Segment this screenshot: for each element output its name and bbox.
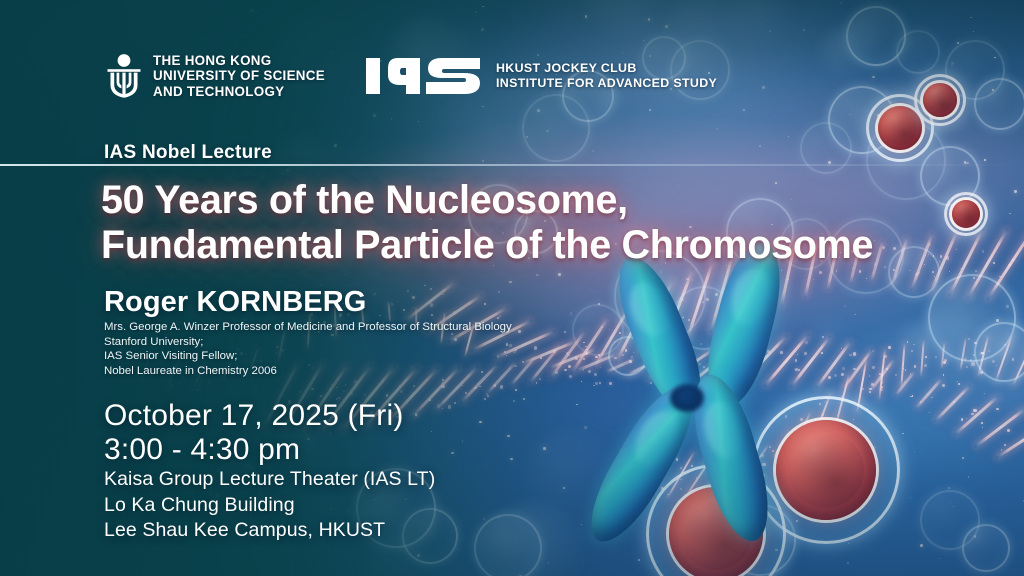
speaker-affiliation: Mrs. George A. Winzer Professor of Medic… — [104, 320, 512, 378]
event-date-time: October 17, 2025 (Fri) 3:00 - 4:30 pm — [104, 399, 435, 467]
header-divider — [0, 164, 1024, 166]
series-label: IAS Nobel Lecture — [104, 142, 272, 164]
event-date: October 17, 2025 (Fri) — [104, 399, 435, 433]
ias-wordmark-icon — [364, 54, 482, 98]
event-time: 3:00 - 4:30 pm — [104, 433, 435, 467]
ias-logo: HKUST JOCKEY CLUB INSTITUTE FOR ADVANCED… — [364, 54, 717, 98]
ias-wordmark-line-2: INSTITUTE FOR ADVANCED STUDY — [496, 76, 717, 91]
speaker-affiliation-line-1: Mrs. George A. Winzer Professor of Medic… — [104, 320, 512, 335]
speaker-affiliation-line-4: Nobel Laureate in Chemistry 2006 — [104, 364, 512, 379]
event-venue-line-2: Lo Ka Chung Building — [104, 493, 435, 519]
ias-wordmark-line-1: HKUST JOCKEY CLUB — [496, 61, 717, 76]
event-venue: Kaisa Group Lecture Theater (IAS LT) Lo … — [104, 467, 435, 544]
poster-canvas: THE HONG KONG UNIVERSITY OF SCIENCE AND … — [0, 0, 1024, 576]
event-venue-line-3: Lee Shau Kee Campus, HKUST — [104, 518, 435, 544]
lecture-title: 50 Years of the Nucleosome, Fundamental … — [101, 178, 981, 267]
hkust-wordmark: THE HONG KONG UNIVERSITY OF SCIENCE AND … — [153, 53, 325, 99]
lecture-title-line-1: 50 Years of the Nucleosome, — [101, 178, 981, 223]
hkust-wordmark-line-1: THE HONG KONG — [153, 53, 325, 68]
hkust-shield-icon — [104, 52, 144, 100]
event-details: October 17, 2025 (Fri) 3:00 - 4:30 pm Ka… — [104, 399, 435, 544]
speaker-affiliation-line-3: IAS Senior Visiting Fellow; — [104, 349, 512, 364]
lecture-title-line-2: Fundamental Particle of the Chromosome — [101, 223, 981, 268]
event-venue-line-1: Kaisa Group Lecture Theater (IAS LT) — [104, 467, 435, 493]
hkust-wordmark-line-2: UNIVERSITY OF SCIENCE — [153, 68, 325, 83]
speaker-affiliation-line-2: Stanford University; — [104, 335, 512, 350]
speaker-name: Roger KORNBERG — [104, 286, 366, 319]
hkust-logo: THE HONG KONG UNIVERSITY OF SCIENCE AND … — [104, 52, 325, 100]
hkust-wordmark-line-3: AND TECHNOLOGY — [153, 84, 325, 99]
ias-wordmark-text: HKUST JOCKEY CLUB INSTITUTE FOR ADVANCED… — [496, 61, 717, 90]
logo-bar: THE HONG KONG UNIVERSITY OF SCIENCE AND … — [104, 52, 717, 100]
